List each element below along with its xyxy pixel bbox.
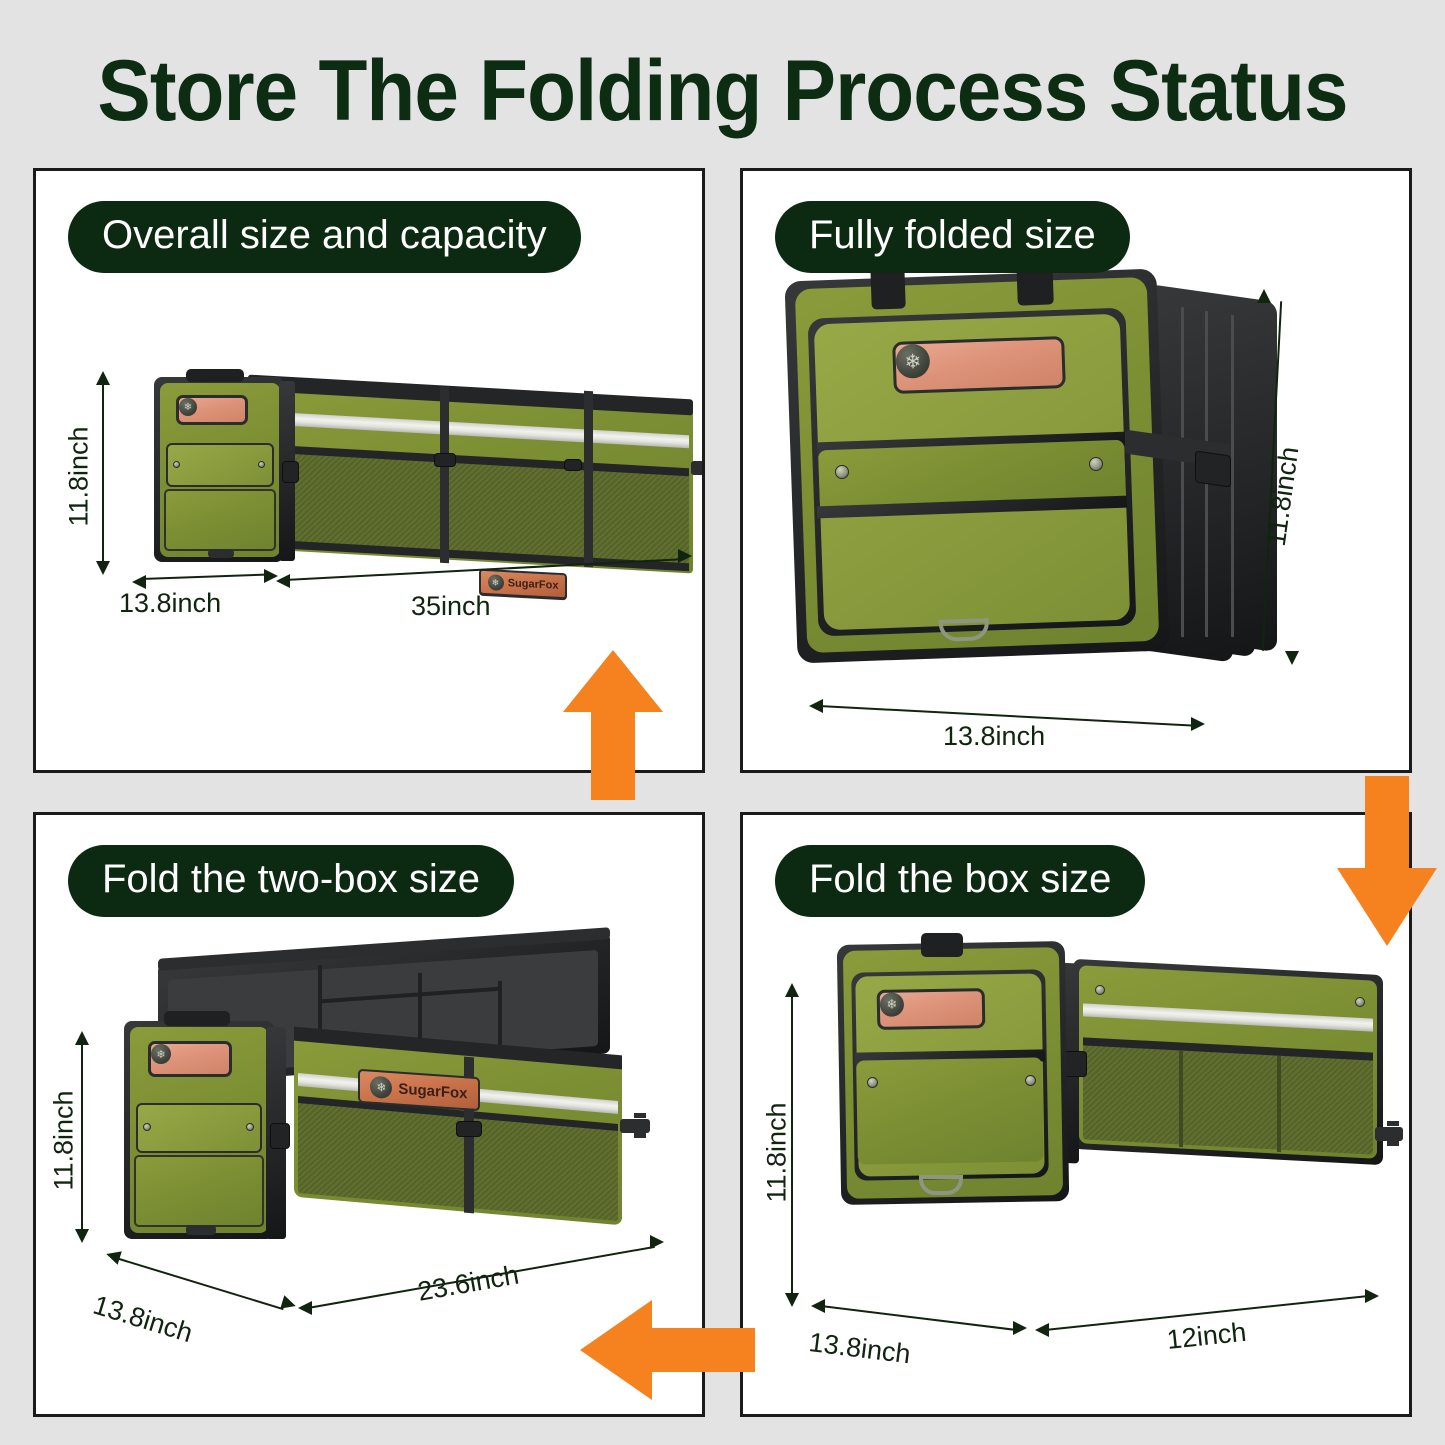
dim-arrowhead-left [132,575,146,589]
leaf-emblem: ❄ [370,1076,392,1100]
fold-buckle [456,1121,482,1137]
strap-buckle [270,1123,290,1149]
window-patch: ❄ [148,1041,232,1077]
dim-arrowhead-down [96,561,110,575]
dim-arrowhead-right [650,1235,664,1249]
grommet [835,465,849,479]
carry-handle [164,1011,230,1026]
dim-label-width: 13.8inch [943,721,1045,752]
dim-arrowhead-down [785,1293,799,1307]
dim-line-depth [141,574,269,580]
dim-arrowhead-up [785,983,799,997]
window-patch: ❄ [877,988,986,1030]
brand-patch-front: ❄ SugarFox [479,569,567,600]
panel-fold-the-box-size: Fold the box size ❄ [740,812,1412,1417]
dim-arrowhead-left [298,1301,312,1315]
leaf-emblem: ❄ [488,574,504,591]
fold-buckle [564,459,582,471]
grommet [246,1123,254,1131]
grommet [1089,457,1103,471]
strap-buckle [1195,450,1231,487]
dim-label-depth: 13.8inch [119,588,221,619]
arrow-down-panel2-to-panel4 [1337,776,1437,946]
dim-arrowhead-right [1191,717,1205,731]
grommet [1025,1075,1036,1086]
grommet [867,1077,878,1088]
panel-2-label: Fully folded size [775,201,1130,273]
dim-arrowhead-right [1013,1321,1027,1335]
dim-label-length: 12inch [1165,1317,1247,1356]
dim-label-depth: 13.8inch [89,1290,196,1349]
carry-handle [186,369,244,382]
panel-1-label: Overall size and capacity [68,201,581,273]
panel-4-label: Fold the box size [775,845,1145,917]
dim-arrowhead-left [104,1247,121,1264]
leaf-emblem: ❄ [179,398,197,416]
carry-handle [921,933,963,957]
dim-line-height [102,383,104,563]
dim-arrowhead-right [1365,1289,1379,1303]
panel-3-label: Fold the two-box size [68,845,514,917]
dim-arrowhead-right [678,549,692,563]
window-patch: ❄ [176,395,248,425]
dim-arrowhead-left [1035,1323,1049,1337]
dim-line-height [81,1043,83,1231]
dim-arrowhead-left [276,574,290,588]
arrow-up-panel3-to-panel1 [563,650,663,800]
dim-label-length: 23.6inch [415,1260,521,1308]
grommet [1095,985,1105,995]
dim-label-height: 11.8inch [49,1090,80,1190]
brand-name: SugarFox [398,1080,467,1102]
dim-label-height: 11.8inch [762,1102,793,1202]
leaf-emblem: ❄ [895,344,930,379]
dim-arrowhead-down [75,1229,89,1243]
dim-label-depth: 13.8inch [807,1327,912,1370]
grommet [143,1123,151,1131]
dim-line-depth [821,1305,1020,1331]
leaf-emblem: ❄ [151,1044,171,1064]
grommet [1355,997,1365,1007]
dim-arrowhead-up [96,371,110,385]
leaf-emblem: ❄ [880,992,904,1016]
dim-arrowhead-up [75,1031,89,1045]
arrow-left-panel4-to-panel3 [580,1300,755,1400]
dim-arrowhead-left [811,1299,825,1313]
dim-label-height: 11.8inch [64,426,95,526]
panel-fully-folded-size: Fully folded size ❄ [740,168,1412,773]
dim-arrowhead-left [809,699,823,713]
dim-label-length: 35inch [411,591,491,622]
page-title: Store The Folding Process Status [51,42,1395,141]
fold-buckle [434,453,456,467]
brand-name: SugarFox [508,577,559,592]
dim-arrowhead-up [1257,289,1271,303]
dim-arrowhead-down [1285,651,1299,665]
window-patch: ❄ [892,336,1066,394]
